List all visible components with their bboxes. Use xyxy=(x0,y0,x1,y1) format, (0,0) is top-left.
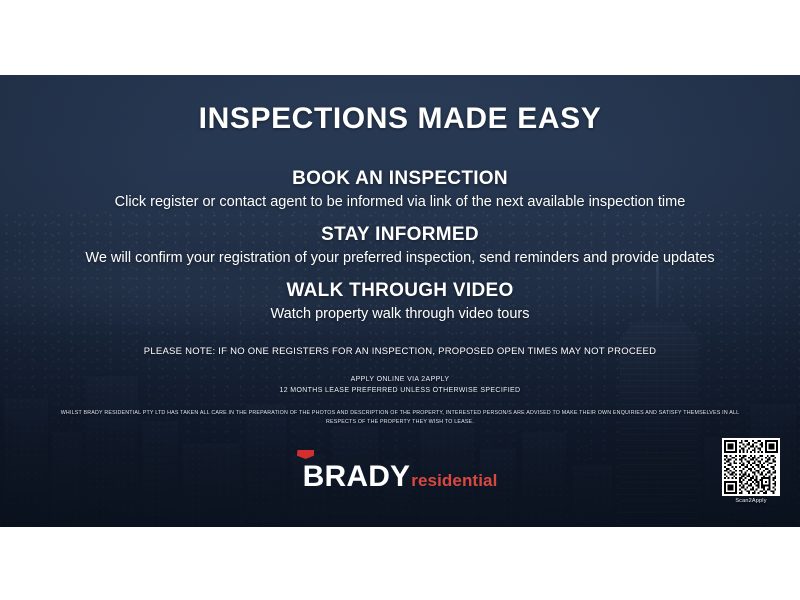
logo-primary-text: BRADY xyxy=(303,462,411,492)
section-title: WALK THROUGH VIDEO xyxy=(0,280,800,302)
qr-code-icon[interactable] xyxy=(722,438,780,496)
brady-residential-logo: BRADY residential xyxy=(0,462,800,492)
scan2apply-qr[interactable]: Scan2Apply xyxy=(718,438,784,504)
banner-content: INSPECTIONS MADE EASY BOOK AN INSPECTION… xyxy=(0,75,800,527)
section-body: Watch property walk through video tours xyxy=(0,306,800,322)
section-stay-informed: STAY INFORMED We will confirm your regis… xyxy=(0,224,800,266)
section-book-an-inspection: BOOK AN INSPECTION Click register or con… xyxy=(0,168,800,210)
section-body: We will confirm your registration of you… xyxy=(0,250,800,266)
please-note-text: PLEASE NOTE: IF NO ONE REGISTERS FOR AN … xyxy=(0,346,800,357)
lease-term-line: 12 MONTHS LEASE PREFERRED UNLESS OTHERWI… xyxy=(0,385,800,396)
section-title: STAY INFORMED xyxy=(0,224,800,246)
section-walk-through-video: WALK THROUGH VIDEO Watch property walk t… xyxy=(0,280,800,322)
section-body: Click register or contact agent to be in… xyxy=(0,194,800,210)
legal-disclaimer: WHILST BRADY RESIDENTIAL PTY LTD HAS TAK… xyxy=(60,409,740,426)
slide-canvas: INSPECTIONS MADE EASY BOOK AN INSPECTION… xyxy=(0,0,800,600)
page-title: INSPECTIONS MADE EASY xyxy=(0,102,800,136)
apply-online-line: APPLY ONLINE VIA 2APPLY xyxy=(0,374,800,385)
apply-info: APPLY ONLINE VIA 2APPLY 12 MONTHS LEASE … xyxy=(0,374,800,396)
inspection-banner: INSPECTIONS MADE EASY BOOK AN INSPECTION… xyxy=(0,75,800,527)
section-title: BOOK AN INSPECTION xyxy=(0,168,800,190)
brady-flag-icon xyxy=(296,450,313,459)
qr-label: Scan2Apply xyxy=(718,498,784,504)
logo-secondary-text: residential xyxy=(411,472,497,489)
